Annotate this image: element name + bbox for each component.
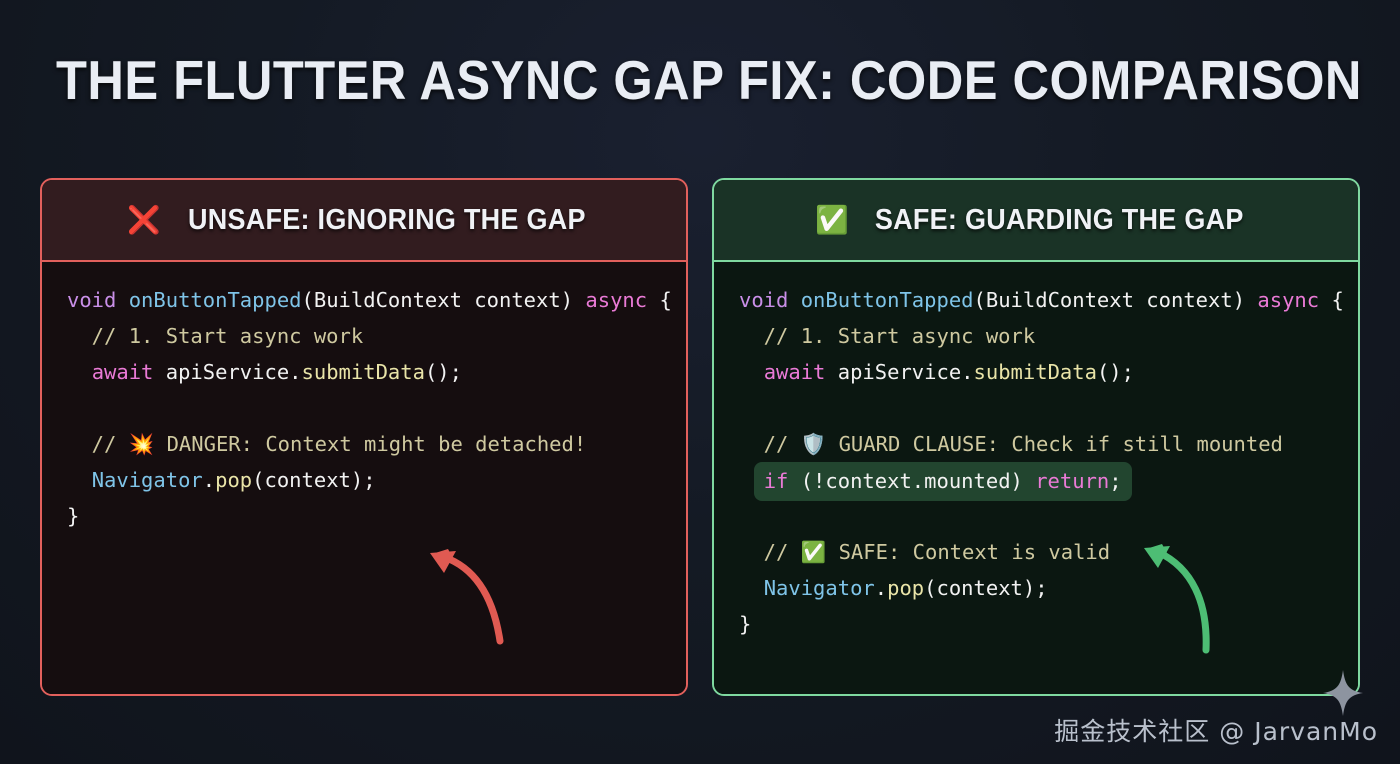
code-token: // 1. Start async work (739, 324, 1035, 348)
code-line: void onButtonTapped(BuildContext context… (739, 282, 1358, 318)
check-mark-button-icon: ✅ (815, 207, 849, 234)
safe-panel-title: SAFE: GUARDING THE GAP (874, 204, 1243, 237)
code-line: void onButtonTapped(BuildContext context… (67, 282, 686, 318)
code-token: (BuildContext context) (974, 288, 1258, 312)
code-token: (context); (924, 576, 1047, 600)
code-token: await (764, 360, 826, 384)
code-token (739, 360, 764, 384)
code-token: (BuildContext context) (302, 288, 586, 312)
unsafe-panel-header: ❌ UNSAFE: IGNORING THE GAP (42, 180, 686, 262)
code-token: submitData (302, 360, 425, 384)
code-token: (); (425, 360, 462, 384)
code-line: Navigator.pop(context); (67, 462, 686, 498)
watermark-text: 掘金技术社区 @ JarvanMo (1054, 712, 1378, 748)
code-token: } (67, 504, 79, 528)
code-token: return (1035, 469, 1109, 493)
four-point-star-icon (1322, 670, 1364, 716)
code-token: // 🛡️ GUARD CLAUSE: Check if still mount… (739, 432, 1283, 456)
unsafe-panel: ❌ UNSAFE: IGNORING THE GAP void onButton… (40, 178, 688, 696)
code-line: if (!context.mounted) return; (739, 462, 1358, 498)
code-line (739, 498, 1358, 534)
code-token: // 1. Start async work (67, 324, 363, 348)
watermark: 掘金技术社区 @ JarvanMo (1054, 712, 1378, 748)
code-token: . (203, 468, 215, 492)
code-line (67, 390, 686, 426)
code-token (67, 468, 92, 492)
code-line: Navigator.pop(context); (739, 570, 1358, 606)
code-token: { (647, 288, 672, 312)
code-line: await apiService.submitData(); (67, 354, 686, 390)
code-line (739, 390, 1358, 426)
code-token: pop (215, 468, 252, 492)
code-token: onButtonTapped (801, 288, 974, 312)
safe-code-block: void onButtonTapped(BuildContext context… (714, 282, 1358, 642)
code-line: // 🛡️ GUARD CLAUSE: Check if still mount… (739, 426, 1358, 462)
safe-panel-body: void onButtonTapped(BuildContext context… (714, 262, 1358, 694)
code-token: onButtonTapped (129, 288, 302, 312)
code-line: // 1. Start async work (739, 318, 1358, 354)
code-token (116, 288, 128, 312)
code-token (67, 360, 92, 384)
code-token (739, 576, 764, 600)
code-token: { (1319, 288, 1344, 312)
code-token: apiService. (825, 360, 973, 384)
code-token: Navigator (764, 576, 875, 600)
code-token: // ✅ SAFE: Context is valid (739, 540, 1110, 564)
code-token: Navigator (92, 468, 203, 492)
highlighted-guard-clause: if (!context.mounted) return; (754, 462, 1132, 501)
code-line: await apiService.submitData(); (739, 354, 1358, 390)
code-token: (context); (252, 468, 375, 492)
unsafe-panel-title: UNSAFE: IGNORING THE GAP (188, 204, 586, 237)
code-line: // 1. Start async work (67, 318, 686, 354)
code-token: apiService. (153, 360, 301, 384)
code-token: void (67, 288, 116, 312)
code-token: } (739, 612, 751, 636)
unsafe-code-block: void onButtonTapped(BuildContext context… (42, 282, 686, 534)
page-title: THE FLUTTER ASYNC GAP FIX: CODE COMPARIS… (56, 48, 1344, 112)
code-token: pop (887, 576, 924, 600)
code-token: submitData (974, 360, 1097, 384)
code-line: // ✅ SAFE: Context is valid (739, 534, 1358, 570)
code-token: . (875, 576, 887, 600)
code-token (788, 288, 800, 312)
code-token: (); (1097, 360, 1134, 384)
code-token: (!context.mounted) (788, 469, 1035, 493)
code-token: async (585, 288, 647, 312)
safe-panel: ✅ SAFE: GUARDING THE GAP void onButtonTa… (712, 178, 1360, 696)
code-line: // 💥 DANGER: Context might be detached! (67, 426, 686, 462)
code-token: if (764, 469, 789, 493)
cross-mark-icon: ❌ (127, 207, 161, 234)
code-token: await (92, 360, 154, 384)
safe-panel-header: ✅ SAFE: GUARDING THE GAP (714, 180, 1358, 262)
red-curved-arrow (382, 537, 512, 647)
code-token: // 💥 DANGER: Context might be detached! (67, 432, 586, 456)
code-token: ; (1109, 469, 1121, 493)
code-line: } (739, 606, 1358, 642)
unsafe-panel-body: void onButtonTapped(BuildContext context… (42, 262, 686, 694)
code-token: async (1257, 288, 1319, 312)
code-line: } (67, 498, 686, 534)
code-token: void (739, 288, 788, 312)
